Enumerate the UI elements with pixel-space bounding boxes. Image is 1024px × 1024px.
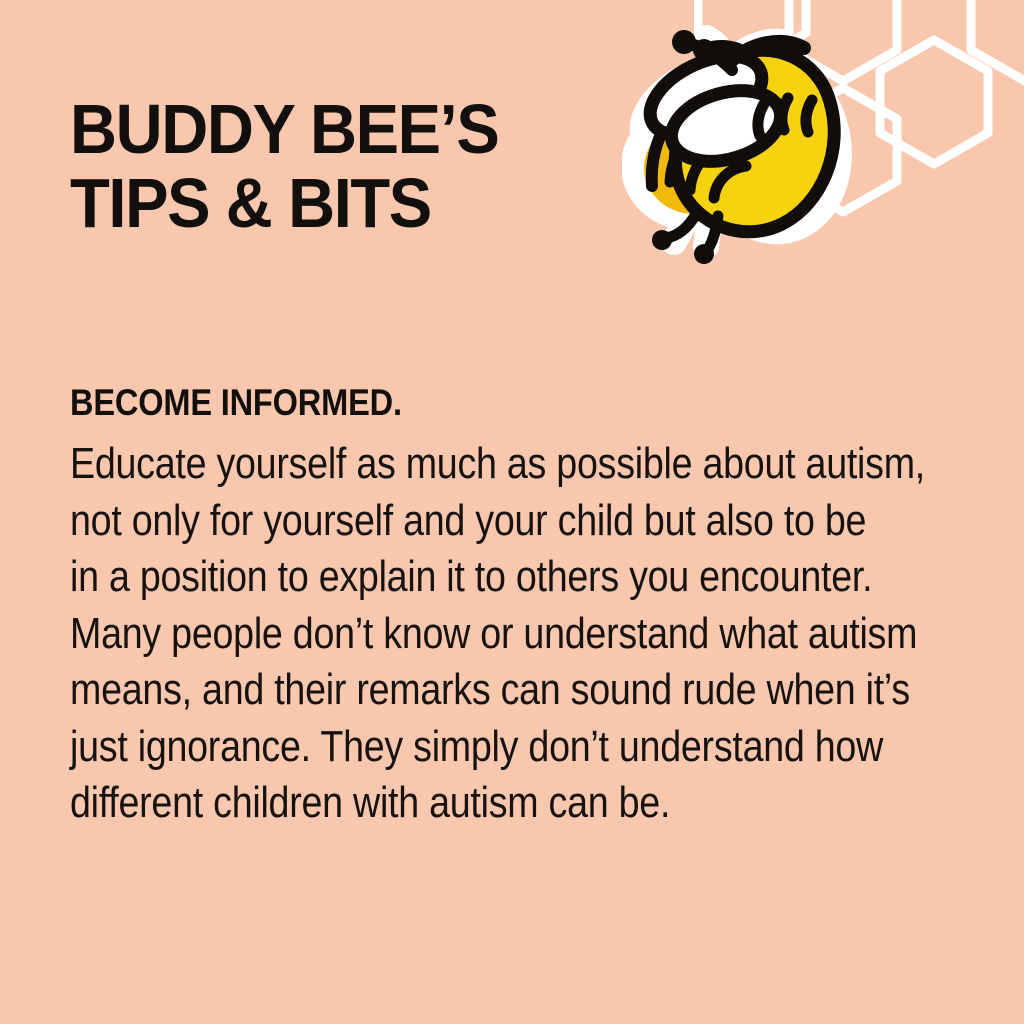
hexagon-icon (880, 40, 988, 164)
tip-body-line: Educate yourself as much as possible abo… (70, 436, 840, 493)
buddy-bee-mascot-icon (622, 18, 882, 274)
bee-foot (652, 230, 672, 250)
bee-foot (694, 244, 714, 264)
page-title-line-2: TIPS & BITS (70, 166, 591, 240)
tip-body-line: Many people don’t know or understand wha… (70, 606, 840, 663)
page-title: BUDDY BEE’S TIPS & BITS (70, 92, 630, 240)
tip-body-line: not only for yourself and your child but… (70, 493, 840, 550)
tip-body-line: means, and their remarks can sound rude … (70, 662, 840, 719)
bee-antenna-tip (672, 30, 696, 54)
tip-lede: BECOME INFORMED. (70, 378, 862, 428)
hexagon-icon (971, 0, 1024, 81)
tip-body-line: different children with autism can be. (70, 775, 840, 832)
bee-antenna-tip (693, 39, 715, 61)
tip-body-line: just ignorance. They simply don’t unders… (70, 719, 840, 776)
page-title-line-1: BUDDY BEE’S (70, 92, 591, 166)
tip-card: BUDDY BEE’S TIPS & BITS BECOME INFORMED.… (0, 0, 1024, 1024)
tip-body: BECOME INFORMED. Educate yourself as muc… (70, 378, 970, 832)
tip-body-line: in a position to explain it to others yo… (70, 549, 840, 606)
